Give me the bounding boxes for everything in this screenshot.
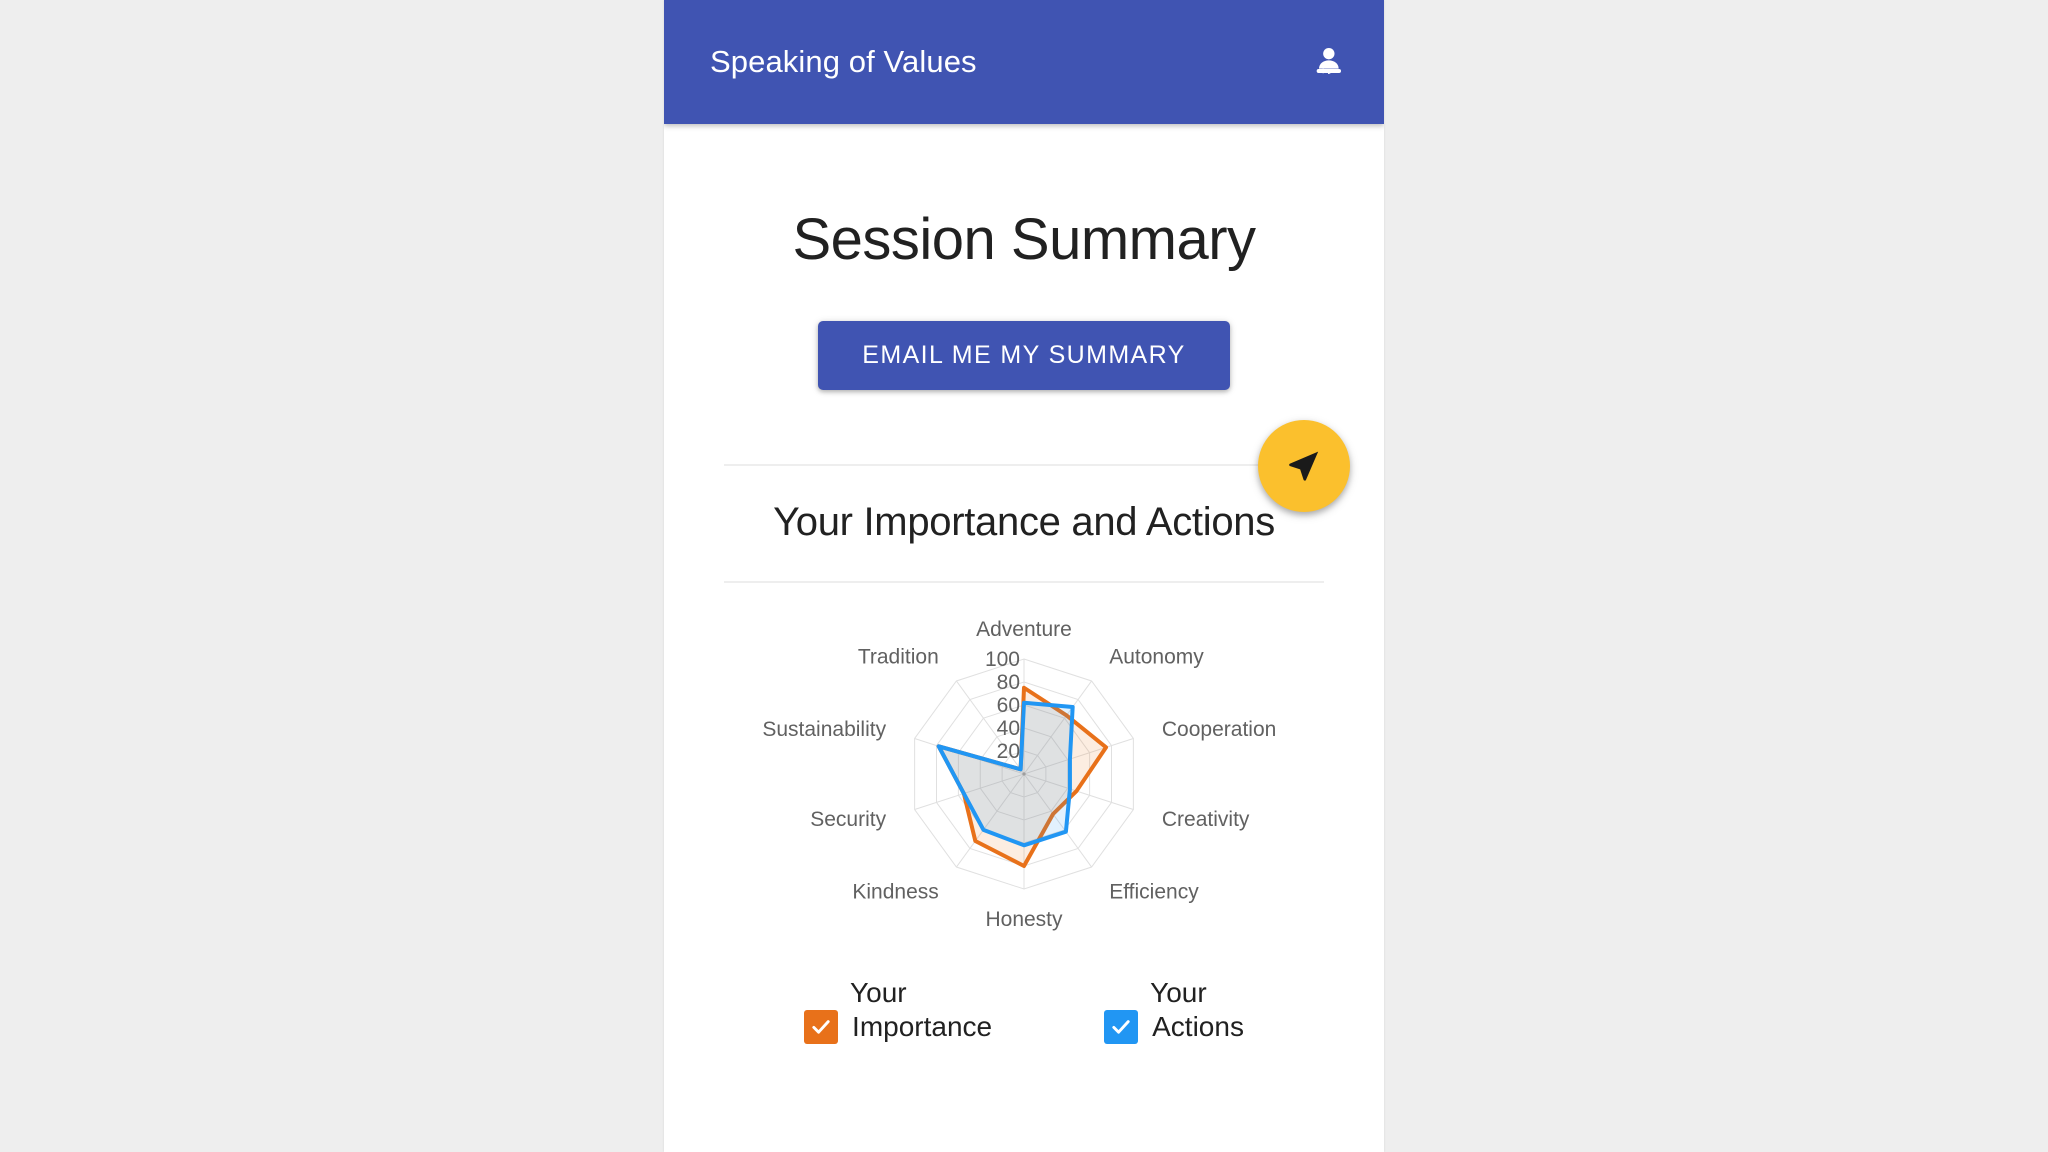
page-title: Session Summary <box>664 124 1384 273</box>
app-card: Speaking of Values Session Summary EMAIL… <box>664 0 1384 1152</box>
app-bar: Speaking of Values <box>664 0 1384 124</box>
radar-chart[interactable]: 20406080100AdventureAutonomyCooperationC… <box>714 589 1334 949</box>
legend-importance-top: Your <box>804 975 907 1010</box>
section-divider-bottom <box>724 581 1324 583</box>
radar-tick-label: 100 <box>985 648 1020 671</box>
radar-center-point <box>1022 772 1025 775</box>
radar-axis-label-cooperation: Cooperation <box>1162 718 1276 741</box>
importance-actions-section: Your Importance and Actions <box>664 464 1384 583</box>
legend-importance-label: Importance <box>852 1011 992 1043</box>
radar-tick-label: 80 <box>997 671 1020 694</box>
page-content: Session Summary EMAIL ME MY SUMMARY Your… <box>664 124 1384 1064</box>
legend-item-actions[interactable]: Your Actions <box>1104 975 1244 1044</box>
radar-axis-label-creativity: Creativity <box>1162 808 1250 831</box>
radar-tick-label: 60 <box>997 694 1020 717</box>
radar-axis-label-honesty: Honesty <box>985 908 1063 931</box>
app-title: Speaking of Values <box>710 44 977 80</box>
legend-importance-row: Importance <box>804 1010 992 1044</box>
email-me-my-summary-button[interactable]: EMAIL ME MY SUMMARY <box>818 321 1229 390</box>
navigation-arrow-icon[interactable] <box>1258 420 1350 512</box>
radar-axis-label-efficiency: Efficiency <box>1109 880 1199 903</box>
app-root: Speaking of Values Session Summary EMAIL… <box>0 0 2048 1152</box>
email-button-container: EMAIL ME MY SUMMARY <box>664 321 1384 390</box>
person-add-icon[interactable] <box>1300 34 1356 90</box>
legend-actions-top: Your <box>1104 975 1207 1010</box>
radar-axis-label-sustainability: Sustainability <box>762 718 886 741</box>
legend-actions-label: Actions <box>1152 1011 1244 1043</box>
radar-tick-label: 20 <box>997 740 1020 763</box>
radar-axis-label-autonomy: Autonomy <box>1109 646 1204 669</box>
radar-tick-label: 40 <box>997 717 1020 740</box>
radar-axis-label-adventure: Adventure <box>976 618 1072 641</box>
radar-axis-label-kindness: Kindness <box>852 880 938 903</box>
checkbox-your-importance[interactable] <box>804 1010 838 1044</box>
checkbox-your-actions[interactable] <box>1104 1010 1138 1044</box>
radar-chart-container: 20406080100AdventureAutonomyCooperationC… <box>664 589 1384 949</box>
legend-actions-row: Actions <box>1104 1010 1244 1044</box>
radar-axis-label-tradition: Tradition <box>858 646 939 669</box>
legend-item-importance[interactable]: Your Importance <box>804 975 992 1044</box>
chart-legend: Your Importance Your <box>664 975 1384 1064</box>
radar-axis-label-security: Security <box>810 808 886 831</box>
section-title: Your Importance and Actions <box>724 466 1324 581</box>
